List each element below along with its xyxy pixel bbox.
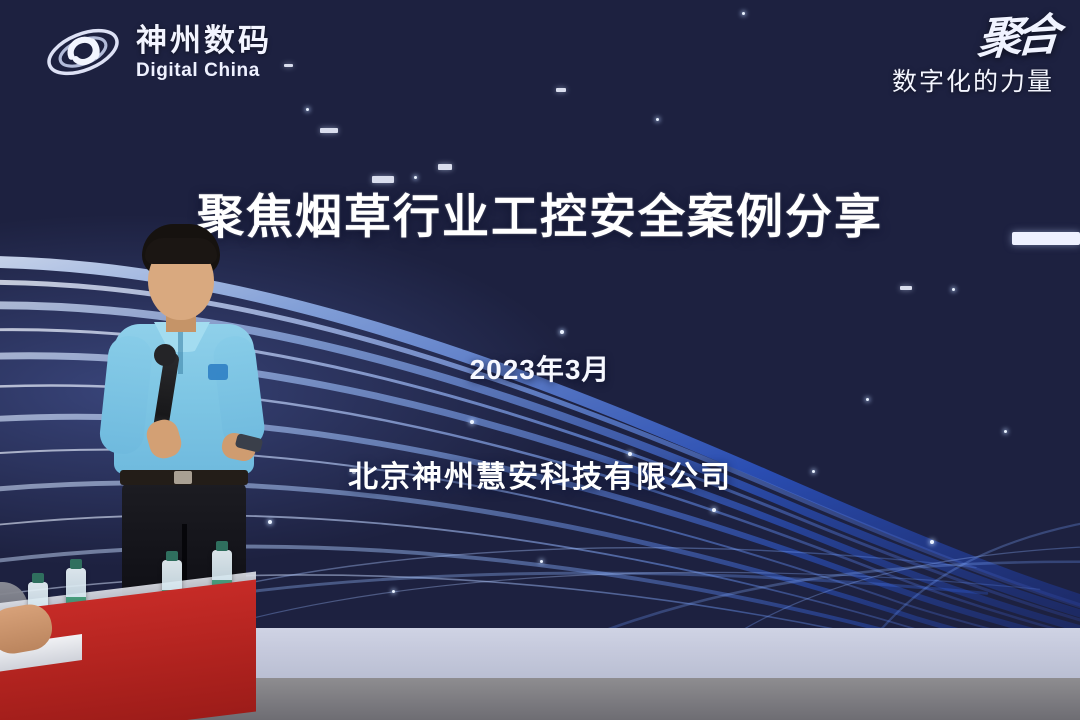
presenter-placket — [178, 328, 183, 374]
presenter-fringe — [145, 238, 217, 264]
bottle-cap — [216, 541, 228, 551]
presenter — [96, 224, 272, 628]
brandmark-calligraphy: 聚合 — [976, 15, 1055, 60]
bottle-cap — [166, 551, 178, 561]
bottle-cap — [70, 559, 82, 569]
presenter-chest-logo — [208, 364, 228, 380]
logo-name-cn: 神州数码 — [136, 25, 272, 56]
conference-photo: 神州数码 Digital China 聚合 数字化的力量 聚焦烟草行业工控安全案… — [0, 0, 1080, 720]
logo-name-en: Digital China — [136, 61, 272, 80]
bottle-cap — [32, 573, 44, 583]
event-brandmark: 聚合 数字化的力量 — [892, 18, 1054, 98]
presenter-belt-buckle — [174, 471, 192, 484]
brandmark-subtitle: 数字化的力量 — [892, 62, 1054, 98]
galaxy-swirl-icon — [44, 22, 122, 82]
digital-china-logo: 神州数码 Digital China — [44, 22, 272, 82]
